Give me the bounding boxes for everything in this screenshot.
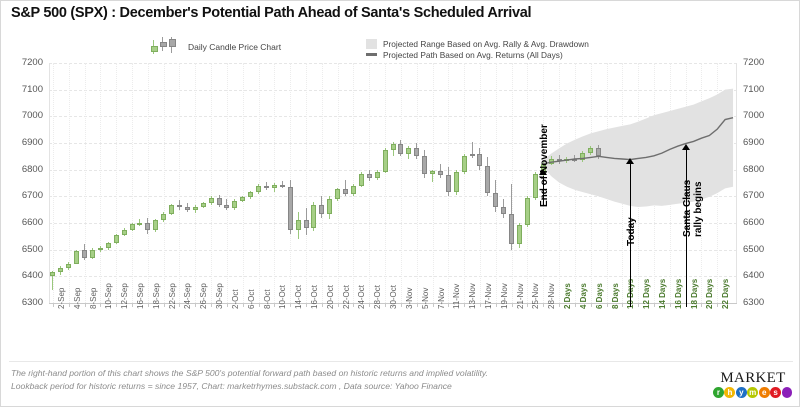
x-axis-tick [274,303,275,307]
projection-path [49,63,737,303]
y-axis-right [736,63,737,303]
y-axis-label-7000: 7000 [3,110,43,121]
y-axis-label-right-6700: 6700 [743,190,783,201]
legend-candle-icon [149,37,185,57]
y-axis-label-right-7100: 7100 [743,84,783,95]
y-axis-left [49,63,50,303]
x-axis-label: 6-Oct [247,289,256,309]
x-axis-label: 26-Sep [199,283,208,309]
y-axis-label-right-6300: 6300 [743,297,783,308]
x-axis-tick [654,303,655,307]
x-axis-tick [227,303,228,307]
legend-range-row: Projected Range Based on Avg. Rally & Av… [366,38,589,49]
y-axis-label-6300: 6300 [3,297,43,308]
x-axis-label: 16-Sep [136,283,145,309]
x-axis-tick [638,303,639,307]
x-axis-tick [512,303,513,307]
x-axis-tick [622,303,623,307]
x-axis-tick [717,303,718,307]
x-axis-tick [417,303,418,307]
x-axis-tick [353,303,354,307]
logo-bubble: m [747,387,758,398]
x-axis-tick [670,303,671,307]
x-axis-label: 2 Days [563,283,572,309]
x-axis-label: 18 Days [690,279,699,309]
x-axis-label: 20 Days [705,279,714,309]
x-axis-label: 14-Oct [294,285,303,309]
legend-path-label: Projected Path Based on Avg. Returns (Al… [383,50,563,60]
x-axis-tick [85,303,86,307]
annotation-label-santa-claus-rally-begins: rally begins [693,181,704,237]
legend-range-label: Projected Range Based on Avg. Rally & Av… [383,39,589,49]
y-axis-label-right-6900: 6900 [743,137,783,148]
x-axis-tick [448,303,449,307]
plot-area [49,63,737,303]
x-axis-tick [591,303,592,307]
x-axis-tick [433,303,434,307]
x-axis-tick [322,303,323,307]
footer-line-2: Lookback period for historic returns = s… [11,380,488,393]
x-axis-label: 5-Nov [421,288,430,309]
legend-path-row: Projected Path Based on Avg. Returns (Al… [366,49,589,60]
x-axis-label: 8-Sep [89,288,98,309]
x-axis-tick [401,303,402,307]
x-axis-label: 16 Days [674,279,683,309]
legend-candles: Daily Candle Price Chart [149,37,281,57]
x-axis-label: 11-Nov [452,284,461,309]
x-axis-tick [69,303,70,307]
x-axis-label: 7-Nov [437,288,446,309]
x-axis-tick [559,303,560,307]
y-axis-label-right-6400: 6400 [743,270,783,281]
x-axis-label: 20-Oct [326,285,335,309]
x-axis-tick [259,303,260,307]
x-axis-tick [527,303,528,307]
y-axis-label-6500: 6500 [3,244,43,255]
logo-bubble: s [770,387,781,398]
x-axis-tick [164,303,165,307]
y-axis-label-7100: 7100 [3,84,43,95]
x-axis-label: 8 Days [611,283,620,309]
x-axis-tick [543,303,544,307]
x-axis-label: 18-Sep [152,283,161,309]
x-axis-label: 19-Nov [500,283,509,309]
page-title: S&P 500 (SPX) : December's Potential Pat… [11,5,531,21]
x-axis-label: 14 Days [658,279,667,309]
logo-bubble [782,387,793,398]
y-axis-label-right-7000: 7000 [743,110,783,121]
x-axis-tick [148,303,149,307]
x-axis-tick [496,303,497,307]
x-axis-tick [243,303,244,307]
x-axis-label: 22 Days [721,279,730,309]
y-axis-label-6800: 6800 [3,164,43,175]
y-axis-label-right-6500: 6500 [743,244,783,255]
x-axis-label: 16-Oct [310,285,319,309]
footer-line-1: The right-hand portion of this chart sho… [11,367,488,380]
x-axis-tick [211,303,212,307]
projection-path-line [543,118,733,164]
x-axis-label: 2-Oct [231,289,240,309]
x-axis-label: 28-Nov [547,283,556,309]
x-axis-tick [385,303,386,307]
y-axis-label-right-6600: 6600 [743,217,783,228]
x-axis-tick [464,303,465,307]
x-axis-label: 21-Nov [516,283,525,309]
x-axis-label: 8-Oct [263,289,272,309]
y-axis-label-6400: 6400 [3,270,43,281]
x-axis-label: 25-Nov [531,283,540,309]
x-axis-label: 2-Sep [57,288,66,309]
logo-bubbles: rhymes [713,387,793,398]
annotation-label-today: Today [626,217,637,246]
logo-wordmark: MARKET [713,370,793,386]
legend-candle-label: Daily Candle Price Chart [188,42,281,52]
x-axis-label: 3-Nov [405,288,414,309]
x-axis-tick [575,303,576,307]
x-axis-label: 6 Days [595,283,604,309]
x-axis-tick [701,303,702,307]
annotation-label-santa-claus-rally-begins: Santa Claus [682,180,693,237]
legend-projection: Projected Range Based on Avg. Rally & Av… [366,38,589,60]
x-axis-label: 22-Oct [342,285,351,309]
x-axis-label: 4 Days [579,283,588,309]
x-axis-label: 30-Sep [215,283,224,309]
footer-divider [9,361,793,362]
logo-bubble: r [713,387,724,398]
x-axis-tick [306,303,307,307]
annotation-label-end-of-november: End of November [539,124,550,207]
x-axis-label: 30-Oct [389,285,398,309]
x-axis-tick [132,303,133,307]
x-axis-tick [100,303,101,307]
x-axis-tick [369,303,370,307]
x-axis-label: 10-Sep [104,283,113,309]
x-axis-tick [607,303,608,307]
x-axis-label: 10-Oct [278,285,287,309]
x-axis-label: 28-Oct [373,285,382,309]
y-axis-label-right-7200: 7200 [743,57,783,68]
y-axis-label-7200: 7200 [3,57,43,68]
y-axis-label-6700: 6700 [3,190,43,201]
x-axis-tick [290,303,291,307]
logo-bubble: y [736,387,747,398]
y-axis-label-right-6800: 6800 [743,164,783,175]
footer-note: The right-hand portion of this chart sho… [11,367,488,392]
x-axis-label: 12-Sep [120,283,129,309]
x-axis-label: 24-Oct [357,285,366,309]
logo-bubble: e [759,387,770,398]
market-rhymes-logo: MARKET rhymes [713,370,793,404]
path-swatch-icon [366,53,377,56]
x-axis-tick [179,303,180,307]
logo-bubble: h [724,387,735,398]
x-axis-tick [195,303,196,307]
chart-container: S&P 500 (SPX) : December's Potential Pat… [0,0,800,407]
x-axis-label: 4-Sep [73,288,82,309]
x-axis-label: 17-Nov [484,283,493,309]
x-axis-tick [53,303,54,307]
y-axis-label-6600: 6600 [3,217,43,228]
range-swatch-icon [366,39,377,49]
x-axis-label: 13-Nov [468,283,477,309]
x-axis-label: 12 Days [642,279,651,309]
x-axis-tick [116,303,117,307]
x-axis-label: 22-Sep [168,283,177,309]
x-axis-tick [480,303,481,307]
x-axis-label: 24-Sep [183,283,192,309]
x-axis-tick [338,303,339,307]
y-axis-label-6900: 6900 [3,137,43,148]
